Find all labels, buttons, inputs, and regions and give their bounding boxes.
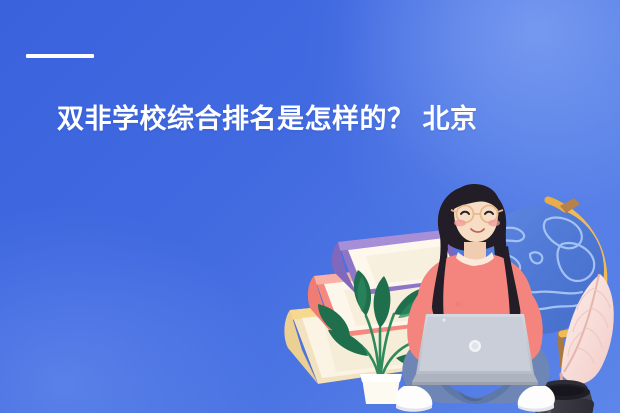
decorative-rule	[26, 54, 94, 58]
laptop-icon	[412, 314, 538, 385]
illustration-student-studying	[262, 168, 620, 413]
background-glow-bottom-left	[0, 203, 270, 413]
promo-banner: 双非学校综合排名是怎样的？ 北京	[0, 0, 620, 413]
page-title: 双非学校综合排名是怎样的？ 北京	[57, 103, 478, 135]
